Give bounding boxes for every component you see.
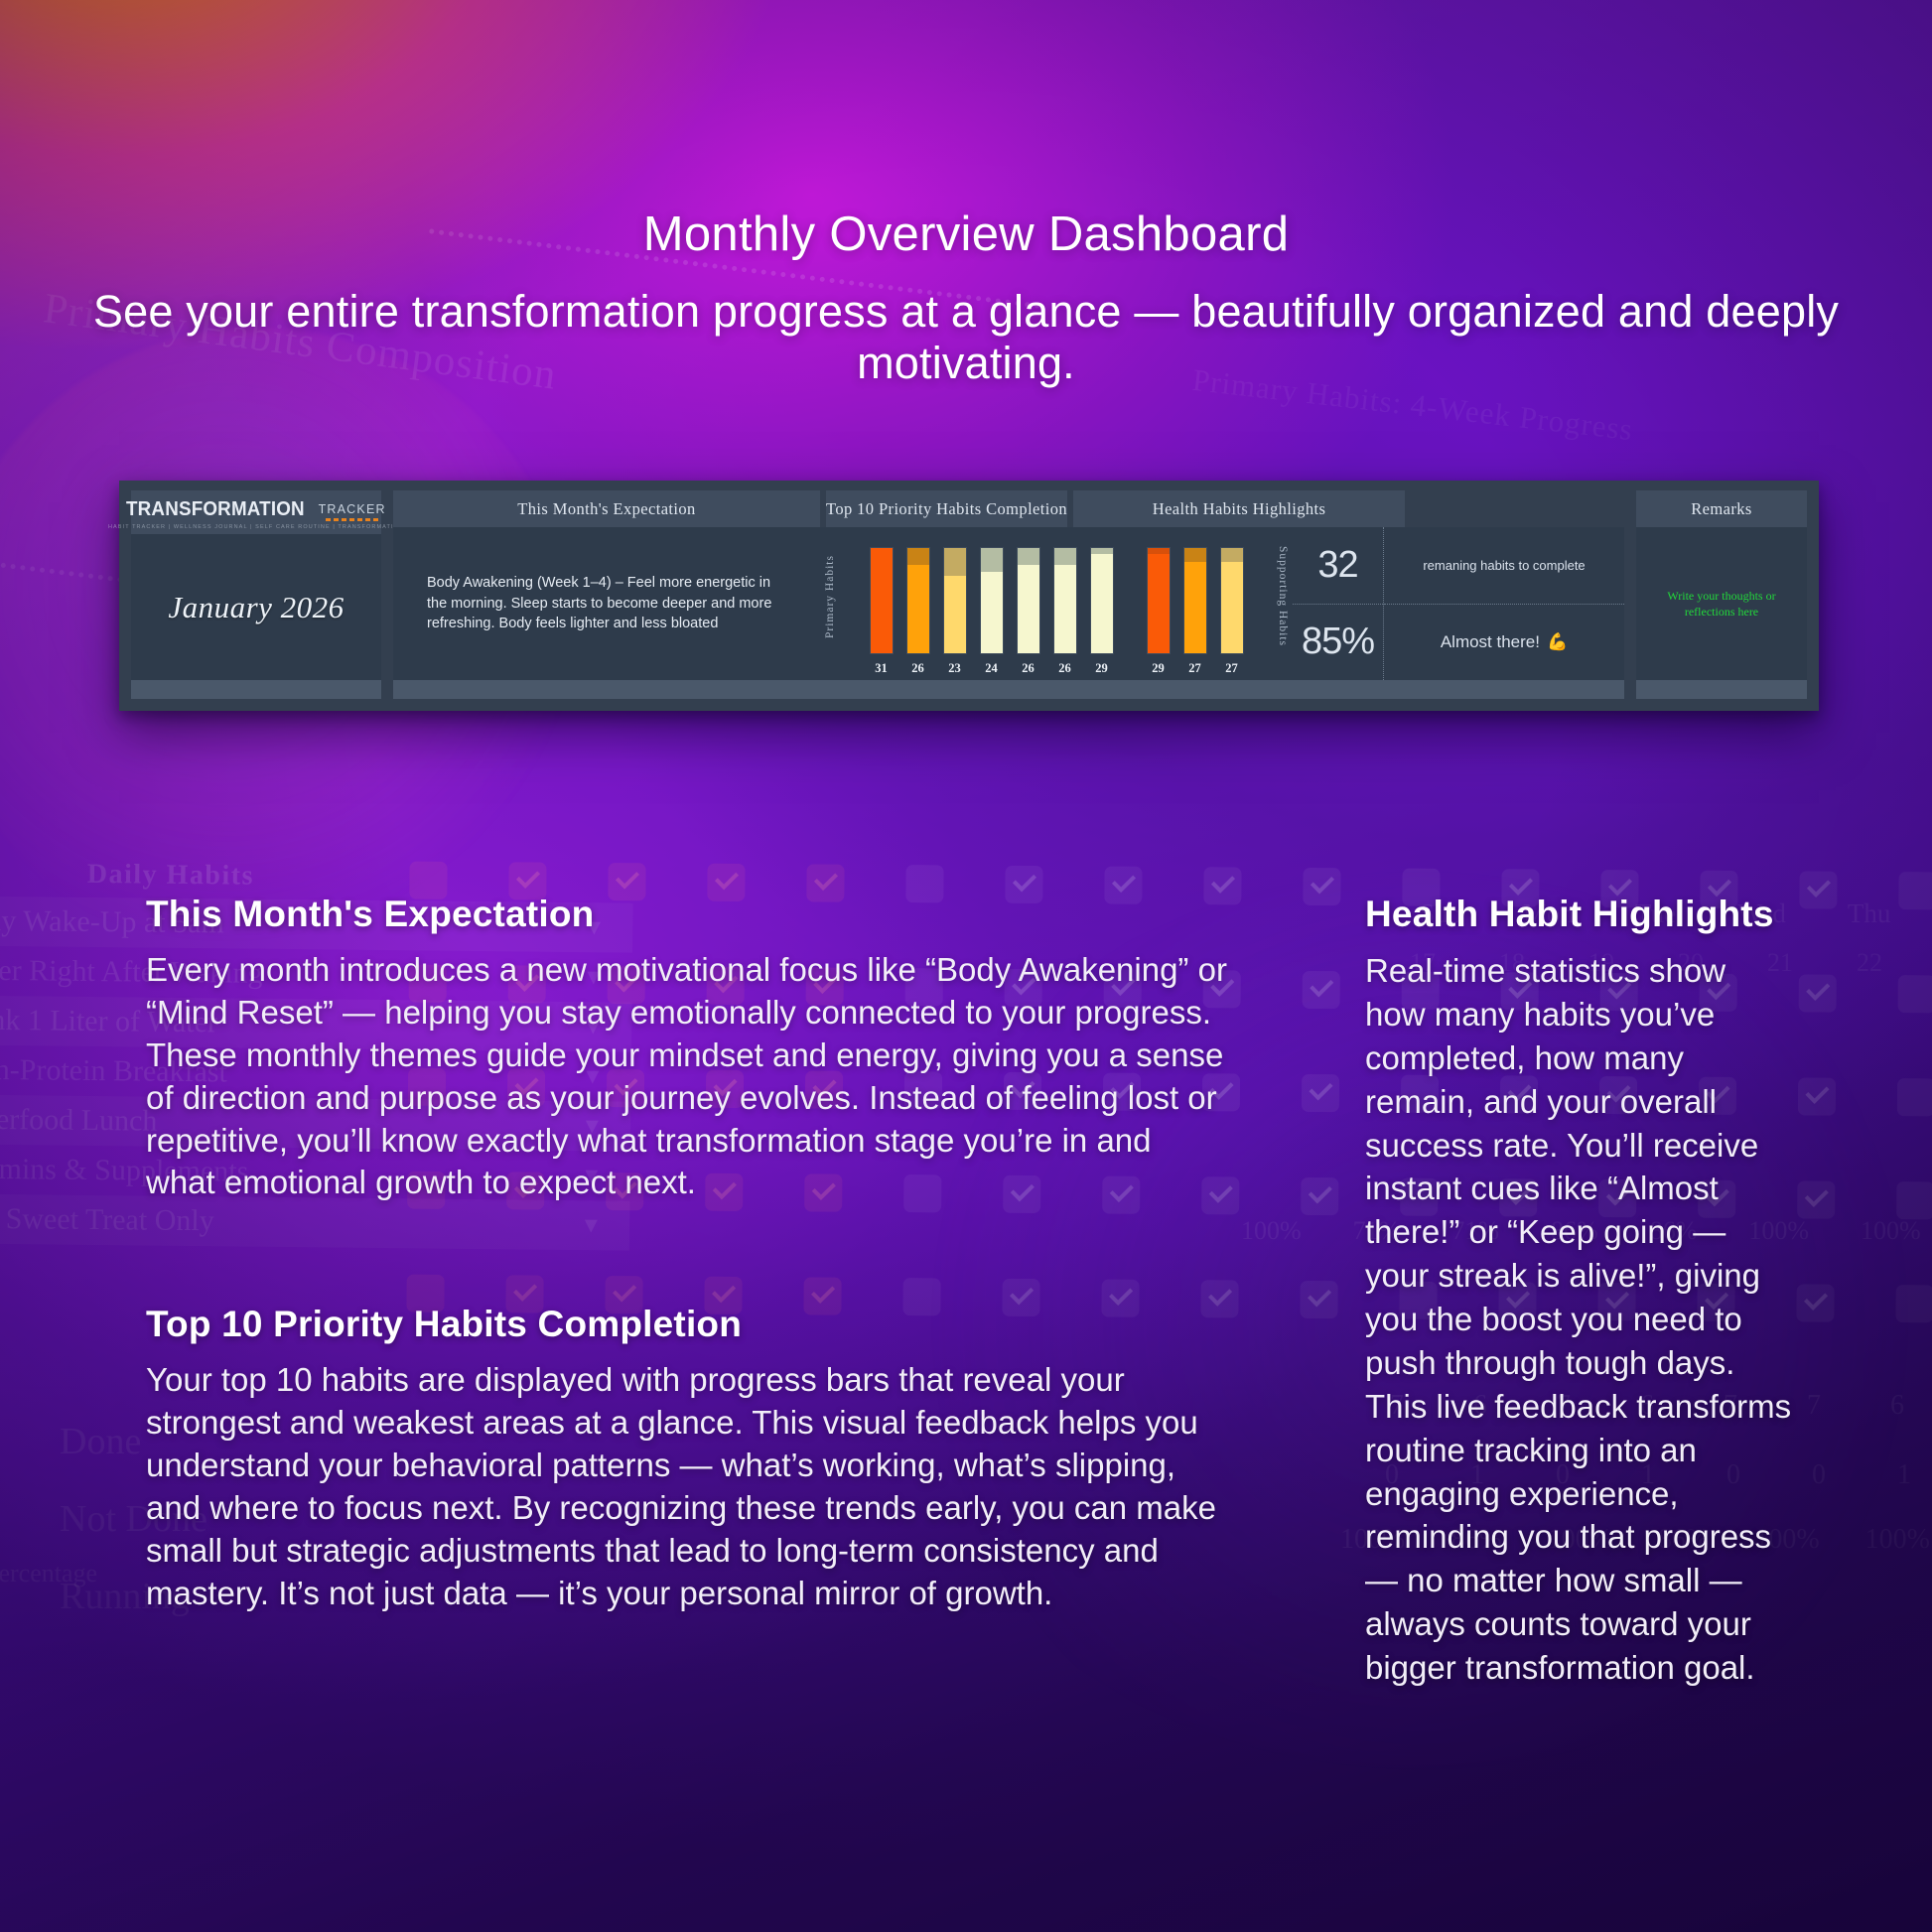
- section-top10: Top 10 Priority Habits Completion Your t…: [146, 1304, 1228, 1614]
- chart-bar: 26: [1046, 537, 1083, 676]
- brand-subwordmark: TRACKER: [319, 503, 386, 516]
- brand-subwordmark-wrap: TRACKER: [319, 503, 386, 521]
- expectation-text: Body Awakening (Week 1–4) – Feel more en…: [427, 573, 786, 634]
- page-subtitle: See your entire transformation progress …: [0, 286, 1932, 389]
- health-panel: 32 85% remaning habits to complete Almos…: [1293, 527, 1624, 680]
- chart-bar-value: 29: [1095, 661, 1108, 676]
- brand-dashed-rule: [326, 518, 379, 521]
- remarks-placeholder-text: Write your thoughts or reflections here: [1648, 588, 1795, 620]
- expectation-panel: Body Awakening (Week 1–4) – Feel more en…: [393, 527, 820, 680]
- chart-bar-fill: [907, 565, 929, 653]
- panel-header-row: This Month's Expectation Top 10 Priority…: [393, 490, 1624, 527]
- health-remaining-value: 32: [1317, 544, 1357, 587]
- chart-bar-track: [906, 547, 930, 654]
- section-expectation: This Month's Expectation Every month int…: [146, 894, 1228, 1204]
- chart-bar-value: 27: [1225, 661, 1238, 676]
- chart-axis-label-supporting: Supporting Habits: [1277, 542, 1289, 651]
- chart-bar: 24: [973, 537, 1010, 676]
- chart-bar-track: [943, 547, 967, 654]
- chart-bar-fill: [1091, 554, 1113, 653]
- health-labels-column: remaning habits to complete Almost there…: [1384, 527, 1624, 680]
- main-group-footer: [393, 680, 1624, 699]
- page-header: Monthly Overview Dashboard See your enti…: [0, 0, 1932, 389]
- panel-header-expectation: This Month's Expectation: [393, 490, 820, 527]
- section-body-top10: Your top 10 habits are displayed with pr…: [146, 1359, 1228, 1614]
- brand-panel-footer: [131, 680, 381, 699]
- chart-bar-remainder: [1221, 548, 1243, 562]
- brand-logo: TRANSFORMATION TRACKER: [126, 498, 385, 521]
- left-column: This Month's Expectation Every month int…: [146, 894, 1228, 1615]
- chart-bar-value: 26: [1022, 661, 1035, 676]
- panel-header-health: Health Habits Highlights: [1073, 490, 1405, 527]
- health-values-column: 32 85%: [1293, 527, 1384, 680]
- remarks-input[interactable]: Write your thoughts or reflections here: [1636, 527, 1807, 680]
- chart-bar-remainder: [1018, 548, 1039, 565]
- health-rate-cell: 85%: [1293, 605, 1383, 681]
- chart-bar-track: [1220, 547, 1244, 654]
- chart-bar-track: [1017, 547, 1040, 654]
- health-remaining-cell: 32: [1293, 527, 1383, 605]
- health-remaining-label-cell: remaning habits to complete: [1384, 527, 1624, 605]
- section-title-health: Health Habit Highlights: [1365, 894, 1792, 935]
- chart-bar: 26: [1010, 537, 1046, 676]
- chart-bar-track: [870, 547, 894, 654]
- chart-bar-fill: [1221, 562, 1243, 653]
- chart-bar-fill: [1054, 565, 1076, 653]
- page-title: Monthly Overview Dashboard: [0, 207, 1932, 262]
- panel-header-top10: Top 10 Priority Habits Completion: [826, 490, 1067, 527]
- section-title-expectation: This Month's Expectation: [146, 894, 1228, 935]
- chart-axis-label-primary: Primary Habits: [824, 542, 836, 651]
- chart-bar: 31: [863, 537, 899, 676]
- chart-bar-track: [1183, 547, 1207, 654]
- chart-bar-value: 24: [985, 661, 998, 676]
- chart-bar-fill: [1184, 562, 1206, 653]
- health-rate-label: Almost there!: [1441, 632, 1540, 652]
- chart-bar-remainder: [1054, 548, 1076, 565]
- remarks-panel-footer: [1636, 680, 1807, 699]
- remarks-panel: Remarks Write your thoughts or reflectio…: [1636, 490, 1807, 699]
- section-body-health: Real-time statistics show how many habit…: [1365, 949, 1792, 1690]
- chart-bar-remainder: [944, 548, 966, 576]
- chart-bar: 27: [1213, 537, 1250, 676]
- chart-bars: 31262324262629292727: [836, 537, 1277, 676]
- panel-body-row: Body Awakening (Week 1–4) – Feel more en…: [393, 527, 1624, 680]
- chart-bar-value: 29: [1152, 661, 1165, 676]
- brand-header: TRANSFORMATION TRACKER HABIT TRACKER | W…: [131, 490, 381, 534]
- health-rate-label-cell: Almost there! 💪: [1384, 605, 1624, 681]
- chart-bar-value: 26: [911, 661, 924, 676]
- brand-tagline: HABIT TRACKER | WELLNESS JOURNAL | SELF …: [108, 524, 404, 530]
- chart-bar-fill: [1148, 554, 1170, 653]
- dashboard-card: TRANSFORMATION TRACKER HABIT TRACKER | W…: [119, 481, 1819, 711]
- chart-bar-value: 31: [875, 661, 888, 676]
- chart-bar-track: [1053, 547, 1077, 654]
- chart-bar-track: [1147, 547, 1171, 654]
- chart-bar-fill: [871, 548, 893, 653]
- section-health: Health Habit Highlights Real-time statis…: [1365, 894, 1792, 1690]
- chart-bar: 29: [1083, 537, 1120, 676]
- chart-bar-remainder: [907, 548, 929, 565]
- chart-bar: 23: [936, 537, 973, 676]
- health-rate-value: 85%: [1302, 621, 1374, 663]
- chart-bar-track: [1090, 547, 1114, 654]
- chart-bar: 29: [1140, 537, 1176, 676]
- dashboard-main-group: This Month's Expectation Top 10 Priority…: [393, 490, 1624, 699]
- health-remaining-label: remaning habits to complete: [1423, 558, 1585, 573]
- brand-panel: TRANSFORMATION TRACKER HABIT TRACKER | W…: [131, 490, 381, 699]
- panel-header-remarks: Remarks: [1636, 490, 1807, 527]
- chart-bar-fill: [981, 572, 1003, 653]
- chart-bar-fill: [944, 576, 966, 653]
- section-title-top10: Top 10 Priority Habits Completion: [146, 1304, 1228, 1345]
- top10-chart-panel: Primary Habits 31262324262629292727 Supp…: [820, 527, 1293, 680]
- chart-bar-track: [980, 547, 1004, 654]
- right-column: Health Habit Highlights Real-time statis…: [1365, 894, 1792, 1690]
- chart-bar: 27: [1176, 537, 1213, 676]
- flexed-biceps-icon: 💪: [1547, 632, 1568, 652]
- chart-bar-remainder: [981, 548, 1003, 572]
- month-label: January 2026: [131, 534, 381, 680]
- chart-bar-fill: [1018, 565, 1039, 653]
- chart-bar-remainder: [1184, 548, 1206, 562]
- chart-bar-value: 23: [948, 661, 961, 676]
- section-body-expectation: Every month introduces a new motivationa…: [146, 949, 1228, 1204]
- brand-wordmark: TRANSFORMATION: [126, 498, 305, 521]
- chart-bar: 26: [899, 537, 936, 676]
- chart-bar-value: 26: [1058, 661, 1071, 676]
- chart-bar-value: 27: [1188, 661, 1201, 676]
